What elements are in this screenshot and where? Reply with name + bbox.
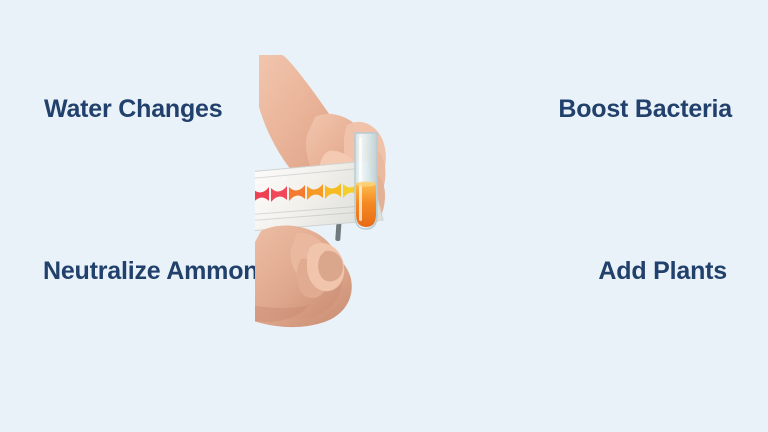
infographic-canvas: Water Changes Boost Bacteria Neutralize … [0,0,768,432]
test-tube [355,133,377,229]
water-test-illustration [255,55,470,355]
label-add-plants: Add Plants [598,259,727,284]
label-neutralize-ammonia: Neutralize Ammonia [43,259,279,284]
water-test-photo [255,55,470,355]
label-water-changes: Water Changes [44,97,222,122]
label-boost-bacteria: Boost Bacteria [558,97,732,122]
